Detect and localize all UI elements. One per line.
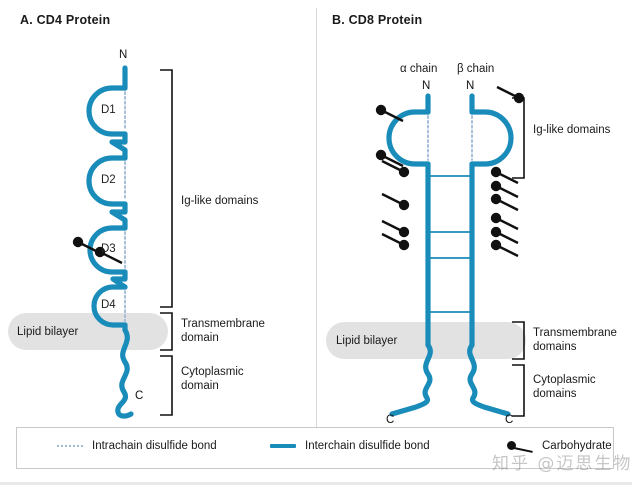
cd8-interchain-disulfide-bonds [428, 176, 472, 312]
cyto-line-2-b: domains [533, 388, 576, 400]
cd4-domain-label-d3: D3 [101, 243, 116, 255]
cd8-alpha-chain-label: α chain [400, 63, 437, 75]
cyto-line-2-a: domain [181, 380, 219, 392]
dotted-line-icon [57, 445, 83, 447]
tm-line-2-a: domain [181, 332, 219, 344]
cd8-beta-chain [470, 96, 511, 414]
cd4-c-terminus-label: C [135, 390, 143, 402]
legend-item-intrachain: Intrachain disulfide bond [57, 440, 217, 452]
bracket-label-transmembrane-b: Transmembrane domains [533, 326, 617, 355]
cd8-brackets [512, 98, 524, 416]
diagram-vector-layer [0, 0, 632, 485]
cd4-domain-label-d4: D4 [101, 299, 116, 311]
carbohydrate-icon [491, 167, 518, 183]
bracket-label-transmembrane-a: Transmembrane domain [181, 317, 265, 346]
cd8-beta-c-terminus-label: C [505, 414, 513, 426]
solid-line-icon [270, 444, 296, 448]
cd4-n-terminus-label: N [119, 49, 127, 61]
cd4-domain-label-d2: D2 [101, 174, 116, 186]
cd8-intrachain-disulfide-bonds [428, 116, 472, 160]
bracket-ig-like-b [512, 98, 524, 178]
carbohydrate-icon [376, 105, 403, 121]
carbohydrate-icon [497, 87, 524, 103]
cd8-beta-chain-label: β chain [457, 63, 494, 75]
watermark: 知乎 @迈思生物 [492, 449, 632, 474]
cd4-domain-label-d1: D1 [101, 104, 116, 116]
bracket-label-ig-like-a: Ig-like domains [181, 194, 258, 208]
bracket-cytoplasmic-a [160, 356, 172, 415]
bracket-cytoplasmic-b [512, 365, 524, 416]
tm-line-1-b: Transmembrane [533, 327, 617, 339]
cd4-brackets [160, 70, 172, 415]
legend-label-interchain: Interchain disulfide bond [305, 440, 430, 452]
bracket-label-ig-like-b: Ig-like domains [533, 123, 610, 137]
bracket-label-cytoplasmic-a: Cytoplasmic domain [181, 365, 244, 394]
tm-line-1-a: Transmembrane [181, 318, 265, 330]
cd8-alpha-chain [389, 96, 430, 414]
bracket-label-cytoplasmic-b: Cytoplasmic domains [533, 373, 596, 402]
cyto-line-1-a: Cytoplasmic [181, 366, 244, 378]
lipid-bilayer-label-a: Lipid bilayer [17, 325, 78, 339]
lipid-bilayer-label-b: Lipid bilayer [336, 334, 397, 348]
carbohydrate-icon [382, 194, 409, 210]
tm-line-2-b: domains [533, 341, 576, 353]
cd8-alpha-n-terminus-label: N [422, 80, 430, 92]
legend-label-intrachain: Intrachain disulfide bond [92, 440, 217, 452]
cd8-alpha-c-terminus-label: C [386, 414, 394, 426]
cyto-line-1-b: Cytoplasmic [533, 374, 596, 386]
carbohydrate-icon [491, 213, 518, 229]
figure-canvas: A. CD4 Protein B. CD8 Protein [0, 0, 632, 485]
bracket-ig-like-a [160, 70, 172, 307]
legend-item-interchain: Interchain disulfide bond [270, 440, 430, 452]
cd8-beta-n-terminus-label: N [466, 80, 474, 92]
